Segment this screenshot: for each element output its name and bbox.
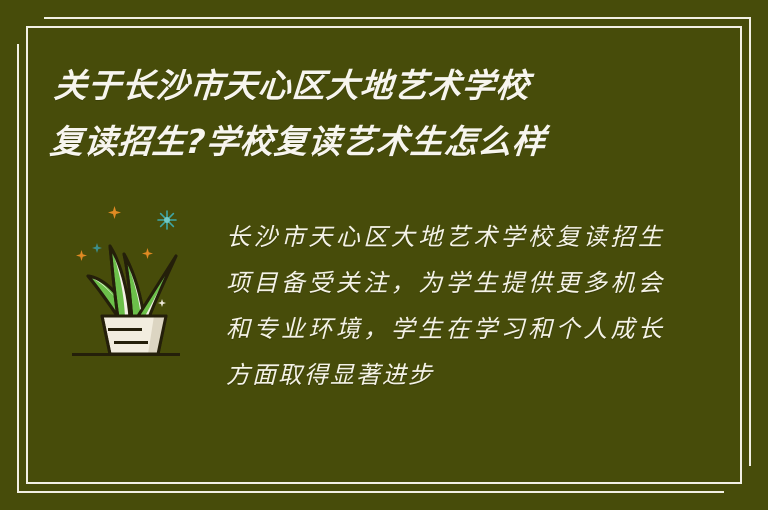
frame-corner-mask-bottom-right (724, 484, 768, 510)
poster-body-copy: 长沙市天心区大地艺术学校复读招生项目备受关注，为学生提供更多机会和专业环境，学生… (226, 214, 664, 398)
poster-canvas: 关于长沙市天心区大地艺术学校 复读招生?学校复读艺术生怎么样 长沙市天心区大地艺… (0, 0, 768, 510)
potted-plant-illustration (58, 198, 243, 383)
frame-corner-mask-bottom-right-2 (742, 466, 768, 510)
headline-line-1: 关于长沙市天心区大地艺术学校 (52, 58, 696, 114)
headline-line-2: 复读招生?学校复读艺术生怎么样 (48, 114, 692, 170)
frame-corner-mask-top-left-2 (0, 0, 26, 44)
flower-pot-icon (102, 316, 166, 354)
frame-corner-mask-top-left (0, 0, 44, 26)
plant-leaves-icon (88, 246, 176, 320)
body-paragraph: 长沙市天心区大地艺术学校复读招生项目备受关注，为学生提供更多机会和专业环境，学生… (226, 214, 664, 398)
poster-headline: 关于长沙市天心区大地艺术学校 复读招生?学校复读艺术生怎么样 (48, 58, 696, 170)
